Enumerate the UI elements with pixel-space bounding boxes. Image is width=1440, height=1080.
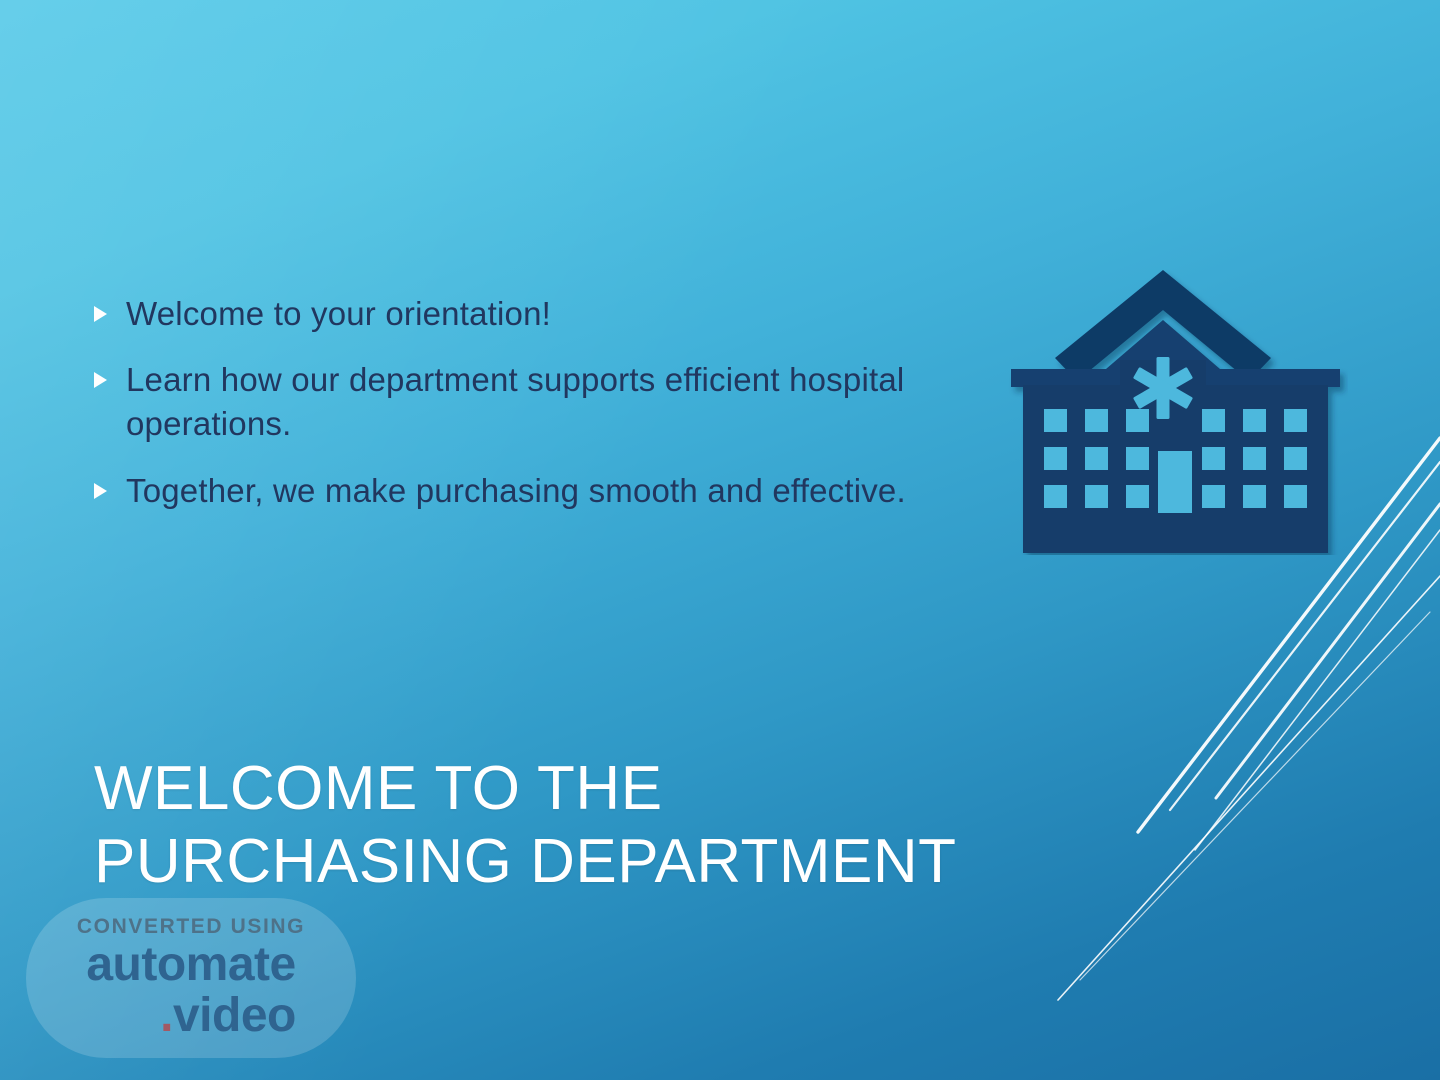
triangle-bullet-icon [88,483,112,499]
list-item: Welcome to your orientation! [88,292,968,336]
watermark-domain: .video [160,991,296,1041]
watermark-badge: CONVERTED USING automate .video [26,898,356,1058]
bullet-text: Welcome to your orientation! [126,292,551,336]
bullet-list: Welcome to your orientation! Learn how o… [88,292,968,535]
bullet-text: Learn how our department supports effici… [126,358,968,446]
watermark-label: CONVERTED USING [77,915,305,939]
triangle-bullet-icon [88,306,112,322]
watermark-brand: automate [86,941,295,989]
presentation-slide: Welcome to your orientation! Learn how o… [0,0,1440,1080]
list-item: Together, we make purchasing smooth and … [88,469,968,513]
page-title: Welcome to the Purchasing Department [94,752,1094,898]
bullet-text: Together, we make purchasing smooth and … [126,469,906,513]
watermark-domain-text: video [173,989,296,1042]
list-item: Learn how our department supports effici… [88,358,968,446]
hospital-building-icon [1003,265,1348,555]
watermark-dot: . [160,989,173,1042]
triangle-bullet-icon [88,372,112,388]
